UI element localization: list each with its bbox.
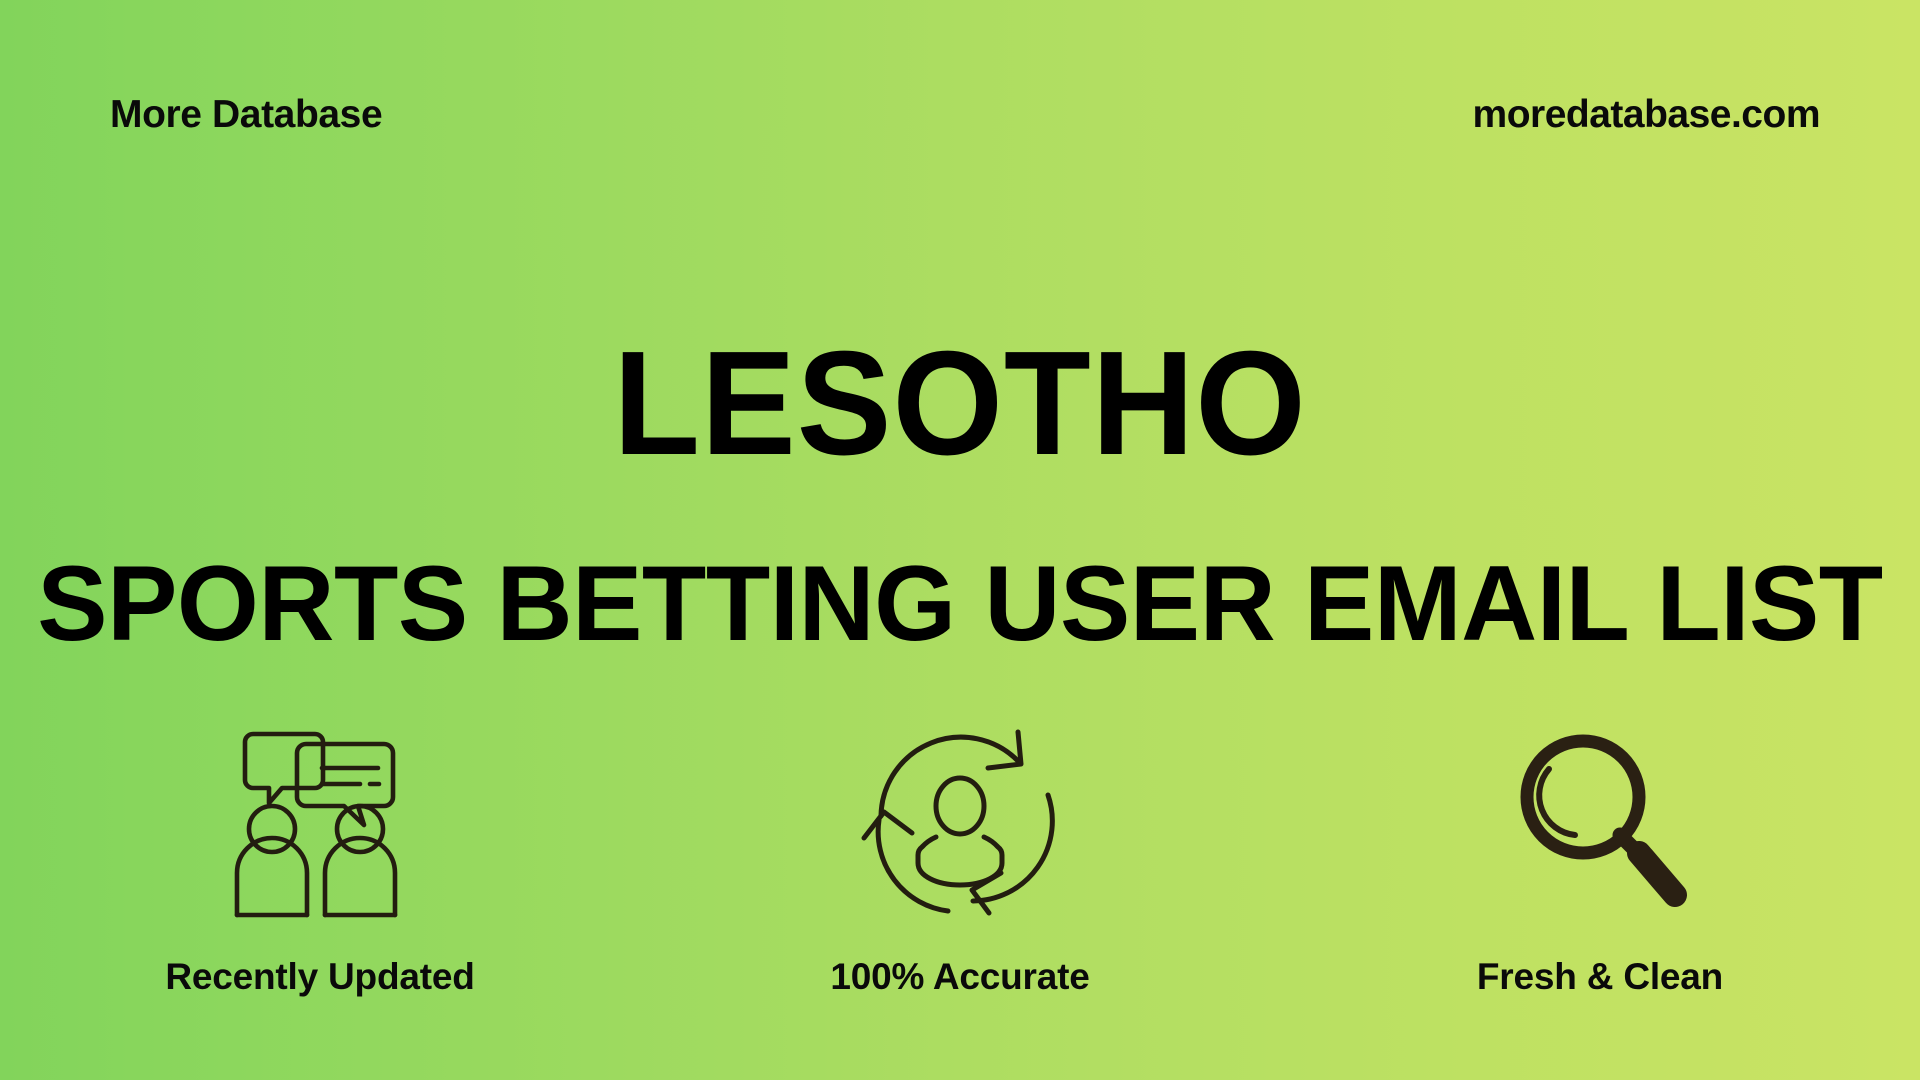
feature-item-fresh-clean: Fresh & Clean	[1280, 720, 1920, 995]
country-title: LESOTHO	[38, 330, 1881, 478]
feature-label: 100% Accurate	[830, 958, 1089, 995]
feature-item-recently-updated: Recently Updated	[0, 720, 640, 995]
feature-label: Recently Updated	[165, 958, 474, 995]
feature-label: Fresh & Clean	[1477, 958, 1723, 995]
two-people-chat-bubbles-icon	[220, 720, 420, 920]
user-refresh-cycle-icon	[860, 720, 1060, 920]
banner-header: More Database moredatabase.com	[110, 86, 1820, 142]
feature-list: Recently Updated	[0, 720, 1920, 995]
hero-title-block: LESOTHO SPORTS BETTING USER EMAIL LIST	[0, 330, 1920, 657]
promo-banner: More Database moredatabase.com LESOTHO S…	[0, 0, 1920, 1080]
brand-name: More Database	[110, 95, 382, 134]
headline-title: SPORTS BETTING USER EMAIL LIST	[14, 550, 1905, 657]
magnifying-glass-icon	[1505, 720, 1695, 920]
feature-item-accurate: 100% Accurate	[640, 720, 1280, 995]
website-url: moredatabase.com	[1473, 95, 1820, 134]
